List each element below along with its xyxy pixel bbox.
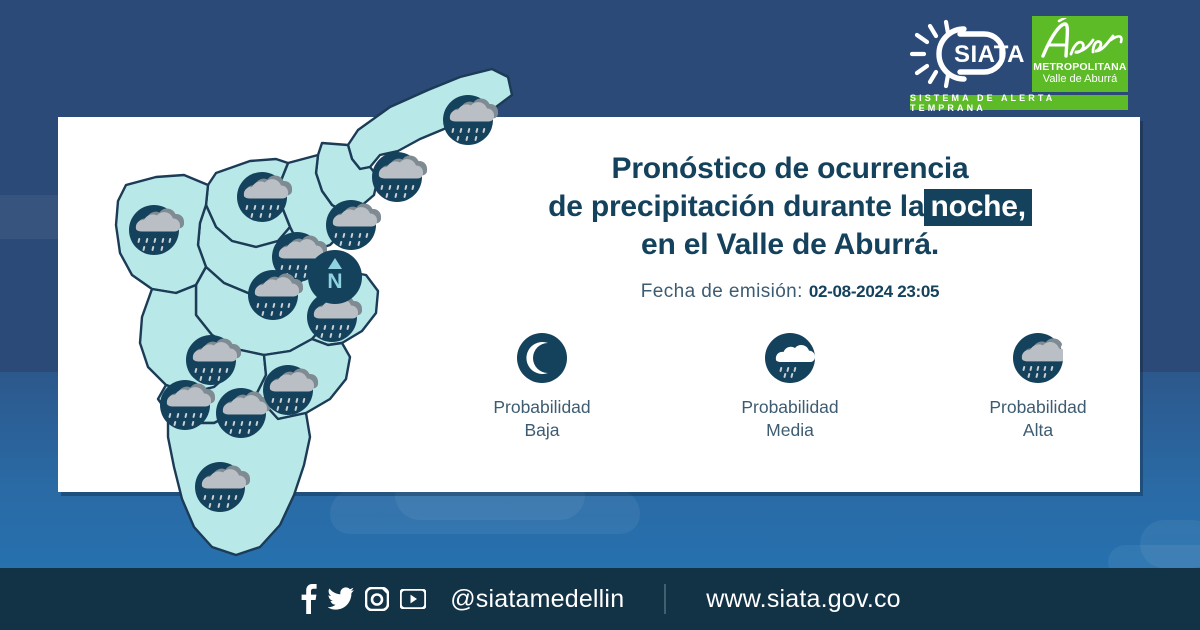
tagline-text: SISTEMA DE ALERTA TEMPRANA xyxy=(910,93,1128,113)
legend-label-media-line2: Media xyxy=(766,420,814,440)
legend-label-media: Probabilidad Media xyxy=(741,396,838,442)
siata-logo: SIATA xyxy=(902,17,1024,91)
cloud-moon-rain-icon xyxy=(765,333,815,383)
background-cloud-right-puff xyxy=(1140,520,1200,568)
compass-label: N xyxy=(327,270,342,293)
page-title: Pronóstico de ocurrencia de precipitació… xyxy=(470,150,1110,264)
twitter-icon[interactable] xyxy=(328,587,354,611)
valle-de-aburra-map: N xyxy=(60,55,520,575)
probability-legend: Probabilidad Baja Probabilidad Media xyxy=(470,333,1110,442)
moon-icon xyxy=(517,333,567,383)
legend-item-media: Probabilidad Media xyxy=(720,333,860,442)
legend-label-media-line1: Probabilidad xyxy=(741,397,838,417)
title-highlight-noche: noche, xyxy=(924,189,1031,226)
footer-divider xyxy=(664,584,666,614)
area-script-icon xyxy=(1035,18,1125,62)
legend-item-alta: Probabilidad Alta xyxy=(968,333,1108,442)
area-logo-line2: Valle de Aburrá xyxy=(1043,73,1117,85)
forecast-panel: Pronóstico de ocurrencia de precipitació… xyxy=(470,150,1110,442)
title-line-2: de precipitación durante lanoche, xyxy=(470,188,1110,226)
emission-label: Fecha de emisión: xyxy=(641,281,803,303)
legend-label-baja-line2: Baja xyxy=(524,420,559,440)
area-metropolitana-logo: METROPOLITANA Valle de Aburrá xyxy=(1032,16,1128,92)
legend-label-baja: Probabilidad Baja xyxy=(493,396,590,442)
logo-group: SIATA METROPOLITANA Valle de Aburrá SIST… xyxy=(902,16,1128,110)
svg-text:SIATA: SIATA xyxy=(954,41,1024,68)
legend-item-baja: Probabilidad Baja xyxy=(472,333,612,442)
legend-label-alta-line2: Alta xyxy=(1023,420,1053,440)
title-line-3: en el Valle de Aburrá. xyxy=(470,226,1110,264)
website-url[interactable]: www.siata.gov.co xyxy=(706,585,900,614)
marker-copacabana xyxy=(326,200,381,250)
facebook-icon[interactable] xyxy=(299,584,317,614)
youtube-icon[interactable] xyxy=(400,589,426,609)
title-line-1: Pronóstico de ocurrencia xyxy=(470,150,1110,188)
legend-label-alta: Probabilidad Alta xyxy=(989,396,1086,442)
social-icons xyxy=(299,584,426,614)
title-line-2-text: de precipitación durante la xyxy=(548,190,924,223)
legend-label-baja-line1: Probabilidad xyxy=(493,397,590,417)
instagram-icon[interactable] xyxy=(365,587,389,611)
social-handle[interactable]: @siatamedellin xyxy=(450,585,624,614)
cloud-rain-icon xyxy=(1013,333,1063,383)
emission-value: 02-08-2024 23:05 xyxy=(809,282,939,302)
marker-girardota xyxy=(372,152,427,202)
legend-label-alta-line1: Probabilidad xyxy=(989,397,1086,417)
compass-rose: N xyxy=(308,250,362,304)
emission-date: Fecha de emisión: 02-08-2024 23:05 xyxy=(470,281,1110,303)
footer-bar: @siatamedellin www.siata.gov.co xyxy=(0,568,1200,630)
area-logo-line1: METROPOLITANA xyxy=(1033,62,1126,73)
tagline-bar: SISTEMA DE ALERTA TEMPRANA xyxy=(910,95,1128,110)
